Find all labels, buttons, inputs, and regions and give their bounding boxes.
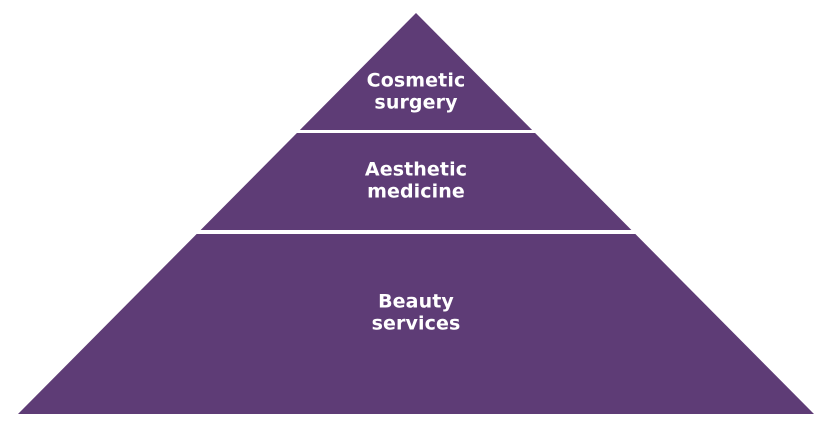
pyramid-shape [0, 0, 832, 432]
tier-divider-top-middle [0, 130, 832, 133]
tier-label-aesthetic-medicine: Aesthetic medicine [365, 159, 467, 204]
tier-label-cosmetic-surgery: Cosmetic surgery [367, 70, 466, 115]
tier-label-beauty-services: Beauty services [372, 291, 461, 336]
tier-divider-middle-bottom [0, 230, 832, 234]
pyramid-diagram: Cosmetic surgery Aesthetic medicine Beau… [0, 0, 832, 432]
